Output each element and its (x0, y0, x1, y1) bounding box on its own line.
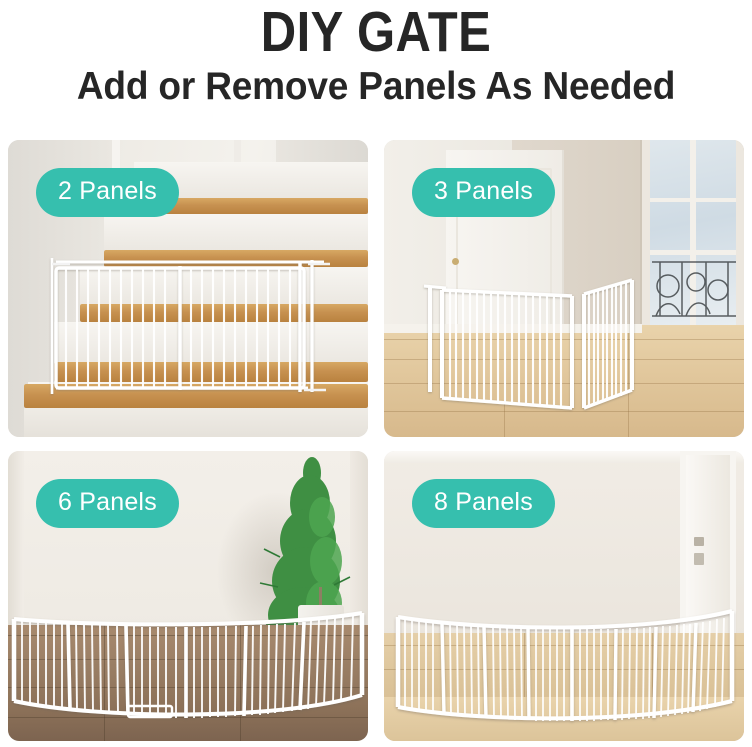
page-title: DIY GATE (53, 2, 700, 62)
badge-8-panels: 8 Panels (412, 479, 555, 528)
badge-3-panels: 3 Panels (412, 168, 555, 217)
badge-2-panels: 2 Panels (36, 168, 179, 217)
infographic-page: DIY GATE Add or Remove Panels As Needed (0, 0, 752, 747)
badge-6-panels: 6 Panels (36, 479, 179, 528)
page-subtitle: Add or Remove Panels As Needed (19, 64, 733, 110)
card-8-panels[interactable]: 8 Panels (384, 451, 744, 741)
card-6-panels[interactable]: 6 Panels (8, 451, 368, 741)
card-2-panels[interactable]: 2 Panels (8, 140, 368, 437)
card-3-panels[interactable]: 3 Panels (384, 140, 744, 437)
header: DIY GATE Add or Remove Panels As Needed (0, 0, 752, 110)
panel-configuration-grid: 2 Panels (8, 140, 744, 740)
